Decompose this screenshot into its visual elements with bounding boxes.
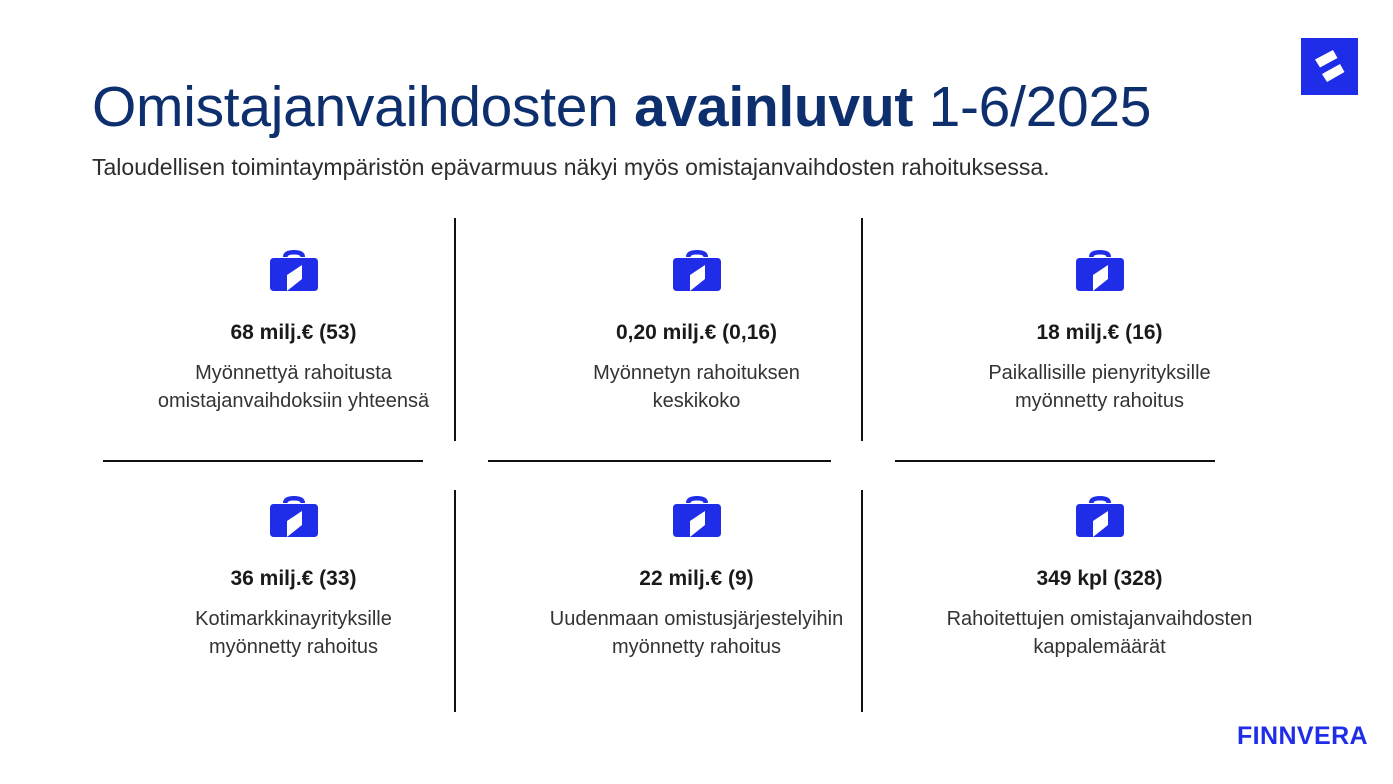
stat-value: 349 kpl (328) <box>898 566 1301 592</box>
stat-value: 0,20 milj.€ (0,16) <box>495 320 898 346</box>
stat-description-line1: Paikallisille pienyrityksille <box>988 362 1210 384</box>
divider-vertical <box>861 490 863 712</box>
stat-value: 36 milj.€ (33) <box>92 566 495 592</box>
page-subtitle: Taloudellisen toimintaympäristön epävarm… <box>92 152 1292 182</box>
finnvera-logo-mark <box>1301 38 1358 95</box>
briefcase-icon <box>898 240 1301 298</box>
stat-description: Rahoitettujen omistajanvaihdostenkappale… <box>898 605 1301 661</box>
stat-description: Myönnettyä rahoitustaomistajanvaihdoksii… <box>92 359 495 415</box>
stat-description-line2: kappalemäärät <box>1033 636 1165 658</box>
stat-description-line1: Myönnetyn rahoituksen <box>593 362 800 384</box>
stat-card: 22 milj.€ (9) Uudenmaan omistusjärjestel… <box>495 486 898 661</box>
stat-description-line1: Uudenmaan omistusjärjestelyihin <box>550 608 843 630</box>
stat-card: 36 milj.€ (33) Kotimarkkinayrityksillemy… <box>92 486 495 661</box>
stat-card: 68 milj.€ (53) Myönnettyä rahoitustaomis… <box>92 240 495 415</box>
stat-description: Myönnetyn rahoituksenkeskikoko <box>495 359 898 415</box>
stat-description-line1: Rahoitettujen omistajanvaihdosten <box>947 608 1253 630</box>
stat-card: 0,20 milj.€ (0,16) Myönnetyn rahoituksen… <box>495 240 898 415</box>
stat-description: Kotimarkkinayrityksillemyönnetty rahoitu… <box>92 605 495 661</box>
stat-card: 18 milj.€ (16) Paikallisille pienyrityks… <box>898 240 1301 415</box>
briefcase-icon <box>495 240 898 298</box>
divider-horizontal <box>488 460 831 462</box>
divider-horizontal <box>103 460 423 462</box>
briefcase-icon <box>898 486 1301 544</box>
header: Omistajanvaihdosten avainluvut 1-6/2025 … <box>92 74 1292 182</box>
briefcase-icon <box>92 240 495 298</box>
title-part-2: 1-6/2025 <box>913 75 1151 139</box>
stat-value: 22 milj.€ (9) <box>495 566 898 592</box>
divider-vertical <box>454 490 456 712</box>
stat-description: Uudenmaan omistusjärjestelyihinmyönnetty… <box>495 605 898 661</box>
page-title: Omistajanvaihdosten avainluvut 1-6/2025 <box>92 74 1292 140</box>
title-emphasis: avainluvut <box>634 75 913 139</box>
stat-description-line2: keskikoko <box>653 390 741 412</box>
stat-description-line2: omistajanvaihdoksiin yhteensä <box>158 390 429 412</box>
briefcase-icon <box>495 486 898 544</box>
divider-vertical <box>861 218 863 441</box>
briefcase-icon <box>92 486 495 544</box>
divider-vertical <box>454 218 456 441</box>
finnvera-wordmark: FINNVERA <box>1237 722 1368 750</box>
stat-value: 68 milj.€ (53) <box>92 320 495 346</box>
stat-description: Paikallisille pienyrityksillemyönnetty r… <box>898 359 1301 415</box>
stat-description-line1: Myönnettyä rahoitusta <box>195 362 392 384</box>
stat-card: 349 kpl (328) Rahoitettujen omistajanvai… <box>898 486 1301 661</box>
infographic-page: Omistajanvaihdosten avainluvut 1-6/2025 … <box>0 0 1393 784</box>
stat-description-line2: myönnetty rahoitus <box>209 636 378 658</box>
stat-description-line1: Kotimarkkinayrityksille <box>195 608 392 630</box>
stat-description-line2: myönnetty rahoitus <box>1015 390 1184 412</box>
stat-description-line2: myönnetty rahoitus <box>612 636 781 658</box>
stats-grid: 68 milj.€ (53) Myönnettyä rahoitustaomis… <box>92 218 1302 714</box>
stat-value: 18 milj.€ (16) <box>898 320 1301 346</box>
divider-horizontal <box>895 460 1215 462</box>
title-part-1: Omistajanvaihdosten <box>92 75 634 139</box>
finnvera-slash-mark-icon <box>1301 38 1358 95</box>
